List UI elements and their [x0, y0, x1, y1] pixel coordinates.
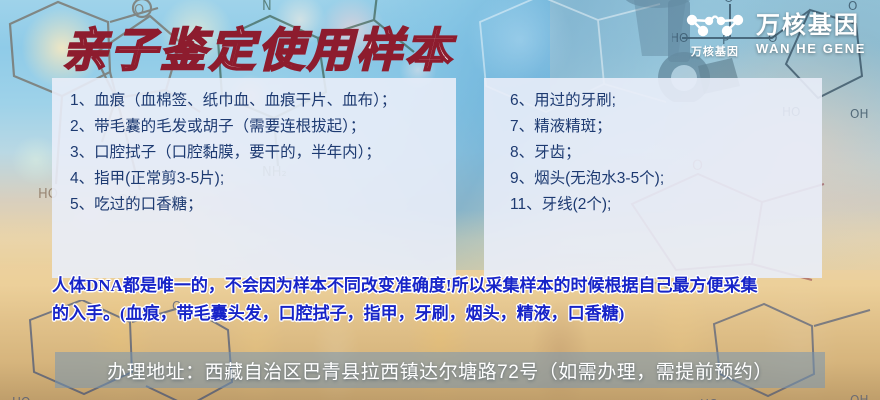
sample-panel-left: 1、血痕（血棉签、纸巾血、血痕干片、血布）； 2、带毛囊的毛发或胡子（需要连根拔…	[52, 78, 456, 278]
list-item: 11、牙线(2个);	[510, 192, 822, 218]
svg-text:OH: OH	[850, 393, 868, 400]
note-line-1: 人体DNA都是唯一的，不会因为样本不同改变准确度!所以采集样本的时候根据自己最方…	[52, 276, 758, 295]
logo-mark-caption: 万核基因	[691, 43, 739, 59]
address-bar: 办理地址：西藏自治区巴青县拉西镇达尔塘路72号（如需办理，需提前预约）	[55, 352, 825, 388]
svg-text:OH: OH	[850, 107, 868, 121]
address-text: 办理地址：西藏自治区巴青县拉西镇达尔塘路72号（如需办理，需提前预约）	[107, 357, 773, 384]
logo-name-en: WAN HE GENE	[756, 42, 866, 55]
sample-list-right: 6、用过的牙刷; 7、精液精斑； 8、牙齿； 9、烟头(无泡水3-5个); 11…	[484, 88, 822, 218]
brand-logo: 万核基因 万核基因 WAN HE GENE	[684, 10, 866, 59]
svg-text:HO: HO	[12, 395, 30, 400]
list-item: 8、牙齿；	[510, 140, 822, 166]
list-item: 6、用过的牙刷;	[510, 88, 822, 114]
page-title: 亲子鉴定使用样本	[62, 14, 454, 80]
list-item: 3、口腔拭子（口腔黏膜，要干的，半年内）；	[70, 140, 456, 166]
list-item: 7、精液精斑；	[510, 114, 822, 140]
note-line-2: 的入手。(血痕，带毛囊头发，口腔拭子，指甲，牙刷，烟头，精液，口香糖)	[52, 300, 852, 328]
list-item: 2、带毛囊的毛发或胡子（需要连根拔起）；	[70, 114, 456, 140]
logo-mark: 万核基因	[684, 10, 746, 59]
list-item: 1、血痕（血棉签、纸巾血、血痕干片、血布）；	[70, 88, 456, 114]
list-item: 9、烟头(无泡水3-5个);	[510, 166, 822, 192]
list-item: 4、指甲(正常剪3-5片);	[70, 166, 456, 192]
sample-panel-right: 6、用过的牙刷; 7、精液精斑； 8、牙齿； 9、烟头(无泡水3-5个); 11…	[484, 78, 822, 278]
logo-wordmark: 万核基因 WAN HE GENE	[756, 14, 866, 55]
svg-text:N: N	[262, 0, 272, 14]
poster-canvas: O HO OH N O NH₂ HO O P	[0, 0, 880, 400]
molecule-network-icon	[684, 10, 746, 40]
logo-name-cn: 万核基因	[756, 14, 860, 38]
sample-list-left: 1、血痕（血棉签、纸巾血、血痕干片、血布）； 2、带毛囊的毛发或胡子（需要连根拔…	[52, 88, 456, 218]
list-item: 5、吃过的口香糖；	[70, 192, 456, 218]
note-paragraph: 人体DNA都是唯一的，不会因为样本不同改变准确度!所以采集样本的时候根据自己最方…	[52, 272, 852, 328]
